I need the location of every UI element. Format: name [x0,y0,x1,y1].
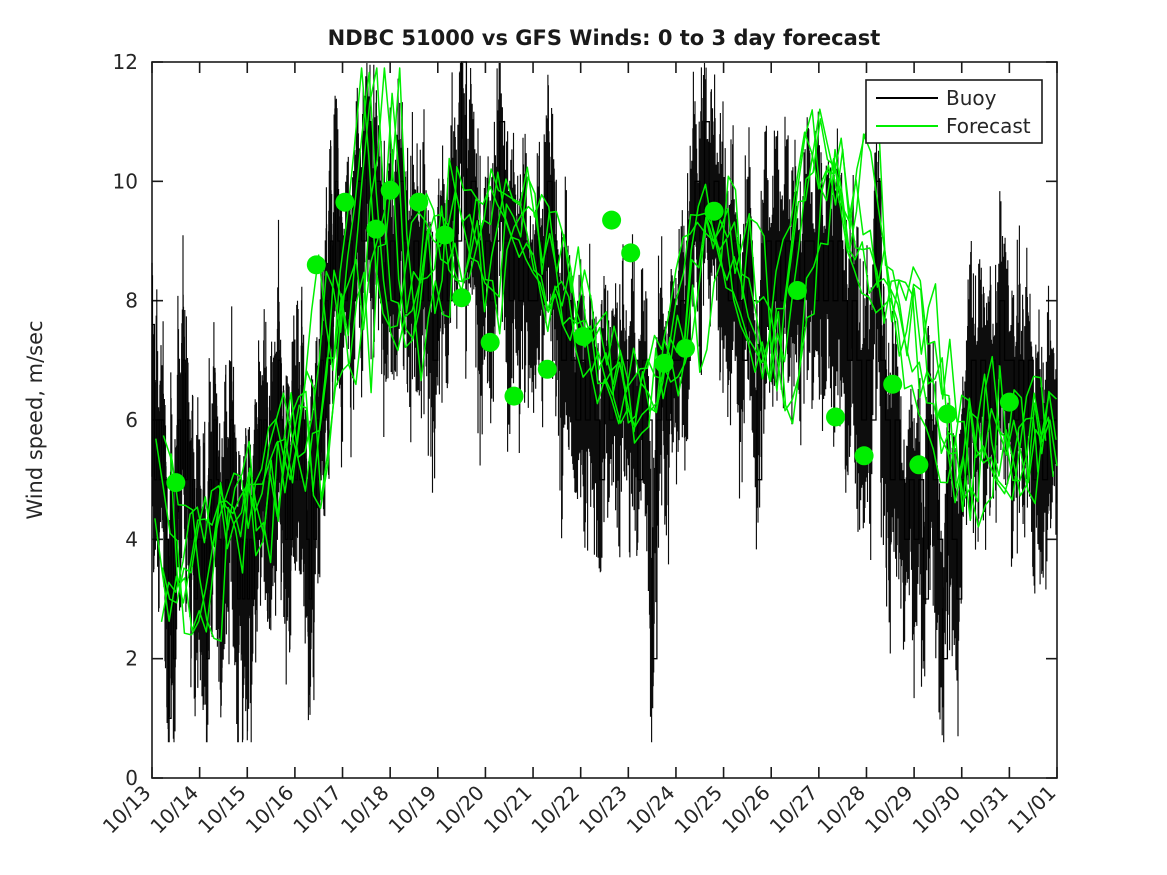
x-tick-label: 10/25 [669,781,727,839]
forecast-marker-dot [481,333,500,352]
y-tick-label: 12 [113,50,138,74]
x-tick-label: 10/28 [812,781,870,839]
forecast-marker-dot [574,327,593,346]
forecast-marker-dot [1000,393,1019,412]
forecast-marker-dot [505,387,524,406]
forecast-marker-dot [826,408,845,427]
x-tick-label: 10/17 [288,781,346,839]
buoy-series [152,62,1057,742]
y-tick-label: 10 [113,169,138,193]
x-tick-label: 10/21 [479,781,537,839]
forecast-marker-dot [909,455,928,474]
x-tick-label: 11/01 [1003,781,1061,839]
chart-page: 02468101210/1310/1410/1510/1610/1710/181… [0,0,1167,875]
forecast-marker-dot [166,473,185,492]
legend-label-buoy: Buoy [946,86,997,110]
y-tick-label: 8 [125,289,138,313]
forecast-marker-dot [655,354,674,373]
x-tick-label: 10/18 [336,781,394,839]
y-tick-label: 4 [125,527,138,551]
forecast-marker-dot [307,255,326,274]
forecast-marker-dot [855,446,874,465]
wind-speed-chart: 02468101210/1310/1410/1510/1610/1710/181… [0,0,1167,875]
forecast-marker-dot [538,360,557,379]
x-tick-label: 10/26 [717,781,775,839]
x-tick-label: 10/29 [860,781,918,839]
y-tick-label: 2 [125,647,138,671]
buoy-hourly-spikes [152,63,1057,742]
x-tick-label: 10/23 [574,781,632,839]
forecast-marker-dot [381,181,400,200]
x-tick-label: 10/27 [765,781,823,839]
forecast-marker-dot [602,211,621,230]
y-axis-label: Wind speed, m/sec [23,320,47,519]
legend[interactable]: BuoyForecast [866,80,1042,143]
forecast-marker-dot [883,375,902,394]
x-tick-label: 10/30 [908,781,966,839]
x-tick-label: 10/24 [622,781,680,839]
forecast-marker-dot [621,243,640,262]
forecast-marker-dot [452,288,471,307]
forecast-marker-dot [938,405,957,424]
forecast-marker-dot [435,226,454,245]
forecast-marker-dot [788,281,807,300]
x-tick-label: 10/31 [955,781,1013,839]
x-tick-label: 10/16 [241,781,299,839]
forecast-marker-dot [705,202,724,221]
chart-title: NDBC 51000 vs GFS Winds: 0 to 3 day fore… [328,26,881,50]
x-tick-label: 10/14 [145,781,203,839]
y-tick-label: 6 [125,408,138,432]
legend-label-forecast: Forecast [946,114,1031,138]
x-tick-label: 10/19 [384,781,442,839]
x-tick-label: 10/20 [431,781,489,839]
x-tick-label: 10/15 [193,781,251,839]
forecast-marker-dot [335,193,354,212]
x-tick-label: 10/22 [526,781,584,839]
forecast-marker-dot [366,220,385,239]
forecast-marker-dot [676,339,695,358]
forecast-marker-dot [409,193,428,212]
